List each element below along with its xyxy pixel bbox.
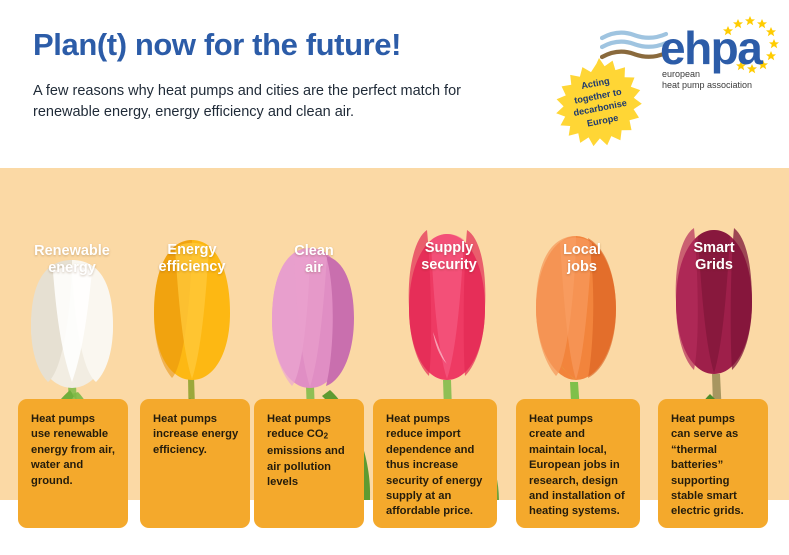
page-subtitle: A few reasons why heat pumps and cities … xyxy=(33,81,503,123)
fact-box-supply-security: Heat pumps reduce import dependence and … xyxy=(373,399,497,528)
header: Plan(t) now for the future! A few reason… xyxy=(0,0,789,168)
ehpa-tagline: european heat pump association xyxy=(662,69,752,91)
ehpa-logo[interactable]: Acting together to decarbonise Europe xyxy=(548,8,789,153)
page-title: Plan(t) now for the future! xyxy=(33,27,401,63)
co2-subscript: 2 xyxy=(324,432,328,441)
fact-box-clean-air: Heat pumps reduce CO2 emissions and air … xyxy=(254,399,364,528)
ehpa-wordmark: ehpa xyxy=(660,25,761,71)
fact-box-energy-efficiency: Heat pumps increase energy efficiency. xyxy=(140,399,250,528)
fact-box-smart-grids: Heat pumps can serve as “thermal batteri… xyxy=(658,399,768,528)
starburst-icon xyxy=(553,56,645,148)
ehpa-tagline-line-1: european xyxy=(662,69,752,80)
ehpa-tagline-line-2: heat pump association xyxy=(662,80,752,91)
poster-root: Plan(t) now for the future! A few reason… xyxy=(0,0,789,555)
decarbonise-badge: Acting together to decarbonise Europe xyxy=(553,56,645,148)
fact-box-renewable-energy: Heat pumps use renewable energy from air… xyxy=(18,399,128,528)
fact-box-local-jobs: Heat pumps create and maintain local, Eu… xyxy=(516,399,640,528)
